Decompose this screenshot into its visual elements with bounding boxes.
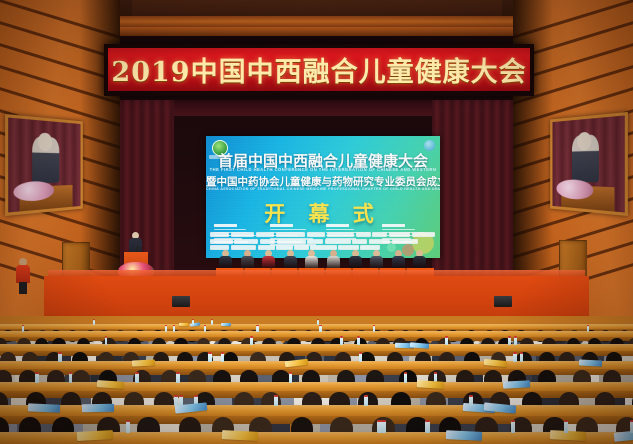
standing-attendant <box>16 258 30 294</box>
water-bottle <box>256 326 258 332</box>
water-bottle <box>204 326 206 332</box>
water-bottle <box>208 353 211 362</box>
panel-seat <box>219 250 232 270</box>
water-bottle <box>564 421 568 433</box>
auditorium-photo: 2019中国中西融合儿童健康大会 首届中国中西融合儿童健康大会 THE FIRS… <box>0 0 633 444</box>
desk-front-panel <box>0 416 633 424</box>
water-bottle <box>381 421 385 433</box>
panel-seat <box>327 250 340 270</box>
bottle-cap <box>58 352 61 354</box>
stage-monitor-speaker-right <box>494 296 512 307</box>
water-bottle <box>373 326 375 332</box>
water-bottle <box>274 396 278 407</box>
attendant-legs <box>19 282 27 294</box>
water-bottle <box>126 421 130 433</box>
conference-booklet <box>179 323 189 326</box>
bottle-cap <box>404 372 408 374</box>
water-bottle <box>173 326 175 332</box>
bottle-cap <box>274 395 278 397</box>
conference-booklet <box>503 380 531 388</box>
bottle-cap <box>364 395 368 397</box>
conference-booklet <box>82 404 114 412</box>
conference-booklet <box>416 380 444 388</box>
projection-screen-left <box>5 114 83 216</box>
water-bottle <box>22 326 24 332</box>
conference-booklet <box>77 430 113 440</box>
water-bottle <box>35 373 39 383</box>
water-bottle <box>587 326 589 332</box>
bottle-cap <box>35 372 39 374</box>
bottle-cap <box>192 319 194 320</box>
bottle-cap <box>69 372 73 374</box>
bottle-cap <box>126 420 130 422</box>
bottle-cap <box>256 325 258 326</box>
water-bottle <box>520 353 523 362</box>
water-bottle <box>250 337 253 344</box>
projection-feed-right <box>552 115 624 212</box>
water-bottle <box>135 373 139 383</box>
conference-booklet <box>97 380 125 388</box>
bottle-cap <box>194 395 198 397</box>
bottle-cap <box>587 325 589 326</box>
water-bottle <box>221 353 224 362</box>
bottle-cap <box>514 336 517 337</box>
water-bottle <box>469 396 473 407</box>
water-bottle <box>105 337 108 344</box>
panel-seat <box>284 250 297 270</box>
bottle-cap <box>22 325 24 326</box>
bottle-cap <box>173 325 175 326</box>
water-bottle <box>319 326 321 332</box>
panel-seat <box>413 250 426 270</box>
bottle-cap <box>211 319 213 320</box>
water-bottle <box>404 373 408 383</box>
water-bottle <box>58 353 61 362</box>
conference-booklet <box>446 430 482 440</box>
bottle-cap <box>319 325 321 326</box>
water-bottle <box>176 373 180 383</box>
water-bottle <box>165 326 167 332</box>
conference-booklet <box>221 323 231 326</box>
conference-booklet <box>410 342 429 348</box>
bottle-cap <box>445 336 448 337</box>
water-bottle <box>514 337 517 344</box>
panel-seat <box>262 250 275 270</box>
water-bottle <box>513 353 516 362</box>
bottle-cap <box>377 420 381 422</box>
water-bottle <box>289 373 293 383</box>
bottle-cap <box>250 336 253 337</box>
stage-monitor-speaker-left <box>172 296 190 307</box>
bottle-cap <box>373 325 375 326</box>
bottle-cap <box>359 352 362 354</box>
bottle-cap <box>340 336 343 337</box>
panel-seat <box>392 250 405 270</box>
bottle-cap <box>289 372 293 374</box>
bottle-cap <box>179 395 183 397</box>
audience-seating <box>0 316 633 444</box>
banner-title: 2019中国中西融合儿童健康大会 <box>111 50 526 89</box>
led-stage-screen: 首届中国中西融合儿童健康大会 THE FIRST CHILD HEALTH CO… <box>206 136 440 258</box>
panel-seat <box>370 250 383 270</box>
water-bottle <box>425 421 429 433</box>
water-bottle <box>508 337 511 344</box>
bottle-cap <box>381 420 385 422</box>
bottle-cap <box>434 372 438 374</box>
water-bottle <box>445 337 448 344</box>
bottle-cap <box>511 420 515 422</box>
bottle-cap <box>508 336 511 337</box>
bottle-cap <box>165 325 167 326</box>
conference-booklet <box>579 359 602 365</box>
conference-booklet <box>132 359 155 366</box>
led-scanline-overlay <box>206 136 440 258</box>
water-bottle <box>511 421 515 433</box>
panel-seat <box>305 250 318 270</box>
bottle-cap <box>425 420 429 422</box>
water-bottle <box>359 353 362 362</box>
projection-feed-left <box>8 118 80 213</box>
water-bottle <box>340 337 343 344</box>
bottle-cap <box>513 352 516 354</box>
bottle-cap <box>357 336 360 337</box>
bottle-cap <box>469 395 473 397</box>
bottle-cap <box>176 372 180 374</box>
water-bottle <box>69 373 73 383</box>
water-bottle <box>357 337 360 344</box>
attendant-shirt <box>16 265 30 283</box>
water-bottle <box>364 396 368 407</box>
water-bottle <box>211 320 213 325</box>
panel-seat <box>241 250 254 270</box>
projection-screen-right <box>550 112 628 216</box>
main-banner: 2019中国中西融合儿童健康大会 <box>108 48 530 91</box>
bottle-cap <box>317 319 319 320</box>
bottle-cap <box>174 395 178 397</box>
bottle-cap <box>135 372 139 374</box>
bottle-cap <box>208 352 211 354</box>
bottle-cap <box>204 325 206 326</box>
panel-seat <box>349 250 362 270</box>
water-bottle <box>377 421 381 433</box>
